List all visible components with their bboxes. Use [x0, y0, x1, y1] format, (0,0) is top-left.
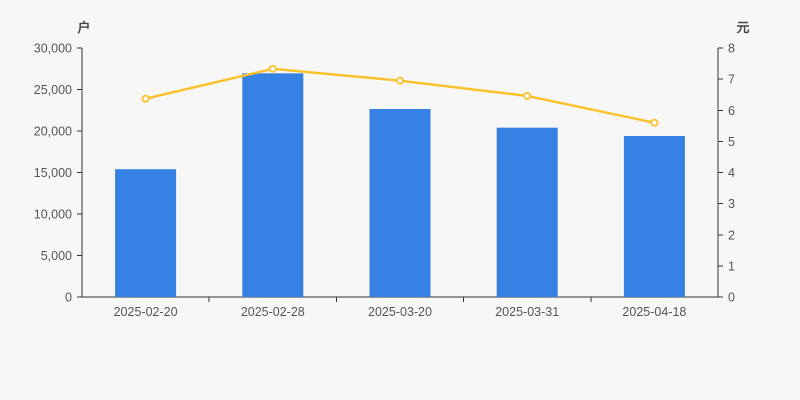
bar-2025-03-31: [497, 128, 558, 297]
x-axis-category-label: 2025-02-28: [241, 305, 305, 319]
bar-2025-03-20: [370, 109, 431, 297]
left-axis-tick-label: 10,000: [34, 208, 72, 222]
line-marker-2025-03-20: [397, 78, 403, 84]
chart-container: 05,00010,00015,00020,00025,00030,000 012…: [0, 0, 800, 400]
right-axis-tick-label: 8: [728, 42, 735, 56]
line-marker-2025-03-31: [524, 93, 530, 99]
right-axis-tick-label: 1: [728, 259, 735, 273]
right-axis-tick-label: 4: [728, 166, 735, 180]
x-axis-category-label: 2025-03-31: [495, 305, 559, 319]
line-marker-2025-02-28: [270, 66, 276, 72]
x-axis-category-label: 2025-03-20: [368, 305, 432, 319]
x-axis-category-label: 2025-02-20: [114, 305, 178, 319]
line-marker-2025-04-18: [651, 120, 657, 126]
left-axis-tick-label: 30,000: [34, 42, 72, 56]
line-marker-2025-02-20: [143, 96, 149, 102]
left-axis-tick-label: 15,000: [34, 166, 72, 180]
right-axis-tick-label: 3: [728, 197, 735, 211]
right-axis-tick-label: 5: [728, 135, 735, 149]
left-axis-unit-label: 户: [77, 20, 90, 35]
chart-canvas: 05,00010,00015,00020,00025,00030,000 012…: [0, 0, 800, 400]
bar-2025-04-18: [624, 136, 685, 297]
right-axis-tick-label: 0: [728, 291, 735, 305]
right-axis-unit-label: 元: [736, 20, 749, 35]
left-axis-tick-label: 5,000: [41, 249, 72, 263]
x-axis-category-label: 2025-04-18: [622, 305, 686, 319]
right-axis-tick-label: 6: [728, 104, 735, 118]
left-axis-tick-label: 0: [65, 291, 72, 305]
right-axis-tick-label: 2: [728, 228, 735, 242]
bar-2025-02-28: [242, 73, 303, 297]
left-axis-tick-label: 20,000: [34, 125, 72, 139]
bar-2025-02-20: [115, 169, 176, 297]
left-axis-tick-label: 25,000: [34, 83, 72, 97]
right-axis-tick-label: 7: [728, 73, 735, 87]
